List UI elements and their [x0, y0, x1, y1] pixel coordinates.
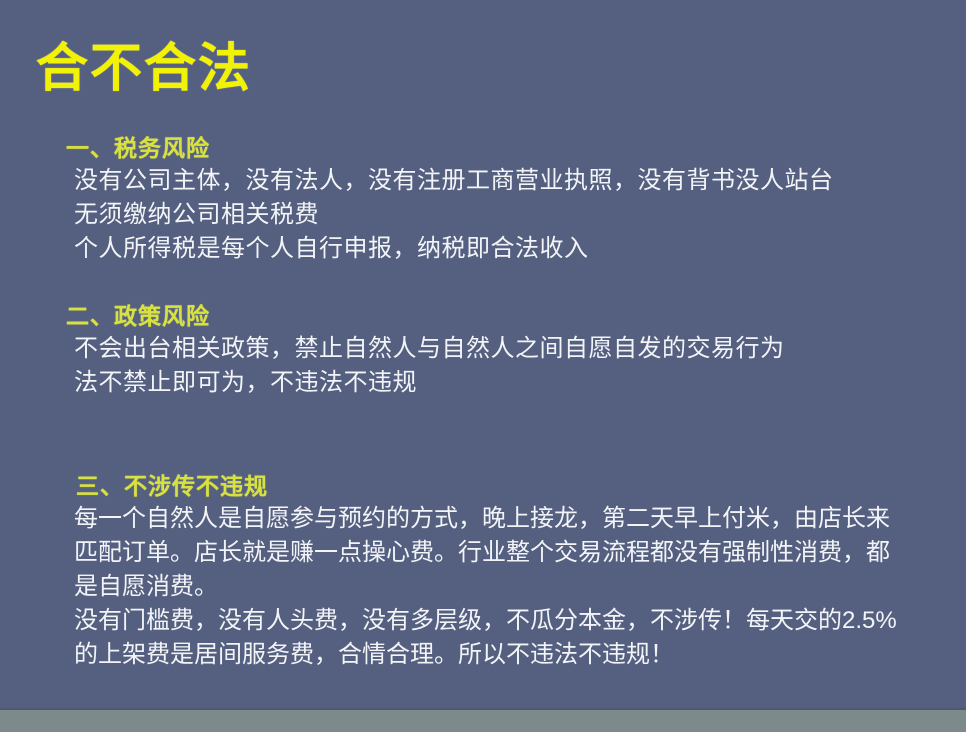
section-body: 不会出台相关政策，禁止自然人与自然人之间自愿自发的交易行为 法不禁止即可为，不违…: [66, 332, 956, 400]
body-line: 没有门槛费，没有人头费，没有多层级，不瓜分本金，不涉传！每天交的2.5%: [74, 604, 956, 638]
section-heading: 二、政策风险: [66, 302, 956, 330]
section-heading: 三、不涉传不违规: [76, 472, 956, 500]
body-line: 法不禁止即可为，不违法不违规: [74, 366, 956, 400]
body-line: 个人所得税是每个人自行申报，纳税即合法收入: [74, 232, 956, 266]
body-line: 无须缴纳公司相关税费: [74, 198, 956, 232]
section-heading: 一、税务风险: [66, 134, 956, 162]
section-tax-risk: 一、税务风险 没有公司主体，没有法人，没有注册工商营业执照，没有背书没人站台 无…: [66, 134, 956, 266]
page-title: 合不合法: [36, 38, 252, 100]
body-line: 的上架费是居间服务费，合情合理。所以不违法不违规！: [74, 638, 956, 672]
section-body: 没有公司主体，没有法人，没有注册工商营业执照，没有背书没人站台 无须缴纳公司相关…: [66, 164, 956, 266]
section-policy-risk: 二、政策风险 不会出台相关政策，禁止自然人与自然人之间自愿自发的交易行为 法不禁…: [66, 302, 956, 400]
bottom-bar: [0, 708, 966, 732]
section-body: 每一个自然人是自愿参与预约的方式，晚上接龙，第二天早上付米，由店长来 匹配订单。…: [66, 502, 956, 672]
body-line: 是自愿消费。: [74, 570, 956, 604]
presentation-slide: 合不合法 一、税务风险 没有公司主体，没有法人，没有注册工商营业执照，没有背书没…: [0, 0, 966, 732]
slide-canvas: 合不合法 一、税务风险 没有公司主体，没有法人，没有注册工商营业执照，没有背书没…: [0, 0, 966, 708]
body-line: 每一个自然人是自愿参与预约的方式，晚上接龙，第二天早上付米，由店长来: [74, 502, 956, 536]
body-line: 匹配订单。店长就是赚一点操心费。行业整个交易流程都没有强制性消费，都: [74, 536, 956, 570]
body-line: 不会出台相关政策，禁止自然人与自然人之间自愿自发的交易行为: [74, 332, 956, 366]
body-line: 没有公司主体，没有法人，没有注册工商营业执照，没有背书没人站台: [74, 164, 956, 198]
section-no-pyramid-scheme: 三、不涉传不违规 每一个自然人是自愿参与预约的方式，晚上接龙，第二天早上付米，由…: [66, 472, 956, 672]
